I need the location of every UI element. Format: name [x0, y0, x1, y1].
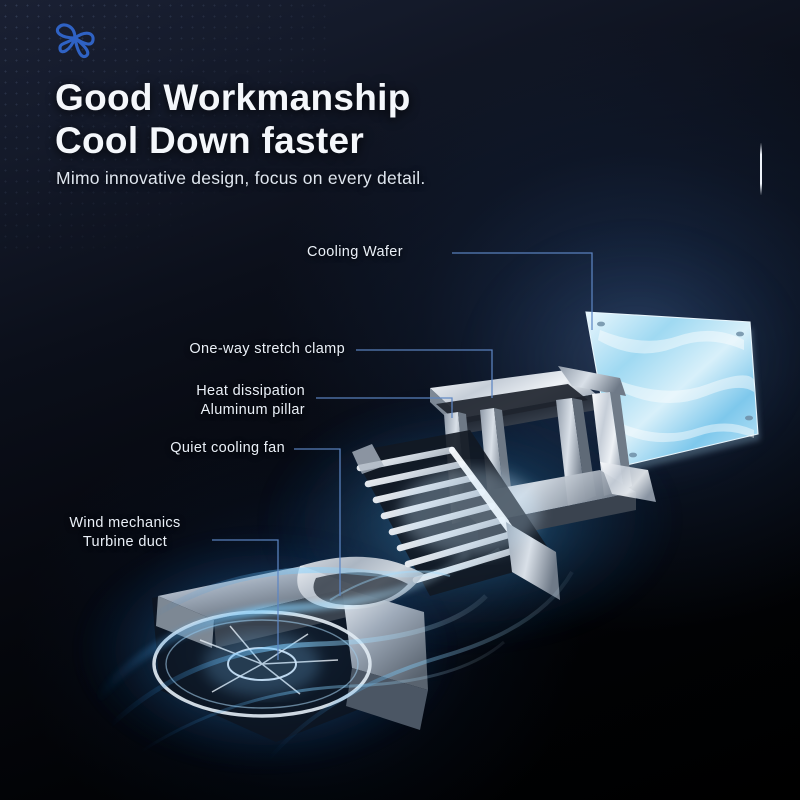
accent-rule [760, 143, 762, 195]
callout-cooling-wafer: Cooling Wafer [307, 243, 403, 262]
callout-cooling-fan: Quiet cooling fan [70, 439, 285, 458]
leader-cooling-fan [294, 449, 340, 596]
leader-turbine-duct [212, 540, 278, 660]
product-poster: Good Workmanship Cool Down faster Mimo i… [0, 0, 800, 800]
page-headline: Good Workmanship Cool Down faster [55, 77, 411, 163]
callout-aluminum-pillar: Heat dissipation Aluminum pillar [80, 382, 305, 421]
leader-stretch-clamp [356, 350, 492, 398]
leader-aluminum-pillar [316, 398, 452, 418]
leader-cooling-wafer [452, 253, 592, 330]
callout-stretch-clamp: One-way stretch clamp [110, 340, 345, 359]
callout-turbine-duct: Wind mechanics Turbine duct [35, 514, 215, 553]
page-subheadline: Mimo innovative design, focus on every d… [56, 168, 425, 189]
